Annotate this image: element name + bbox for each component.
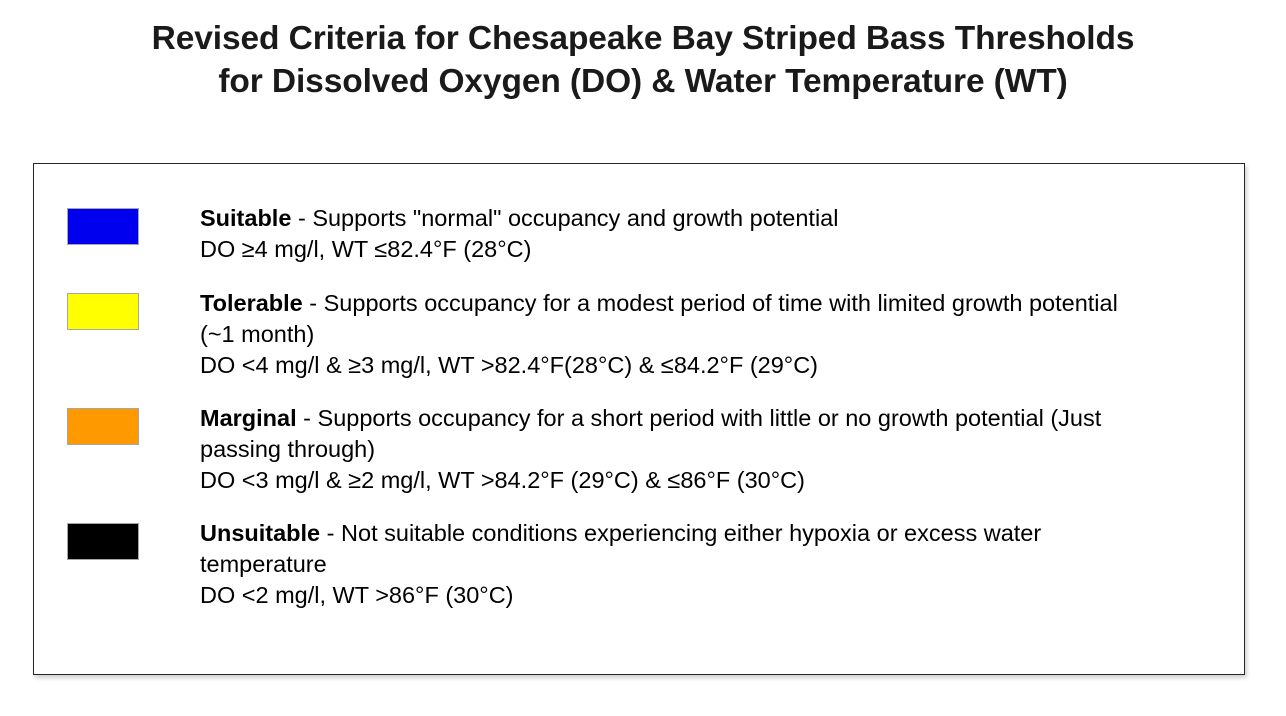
legend-item-tolerable: Tolerable - Supports occupancy for a mod… bbox=[67, 288, 1217, 381]
legend-item-description-unsuitable: Unsuitable - Not suitable conditions exp… bbox=[200, 518, 1215, 580]
legend-item-desc-suitable: Supports "normal" occupancy and growth p… bbox=[312, 205, 838, 231]
legend-item-text-marginal: Marginal - Supports occupancy for a shor… bbox=[200, 403, 1215, 496]
legend-item-separator-unsuitable: - bbox=[320, 520, 341, 546]
legend-item-spec-tolerable: DO <4 mg/l & ≥3 mg/l, WT >82.4°F(28°C) &… bbox=[200, 350, 1215, 381]
legend-item-description-tolerable: Tolerable - Supports occupancy for a mod… bbox=[200, 288, 1215, 350]
color-swatch-suitable bbox=[67, 208, 139, 245]
page-title: Revised Criteria for Chesapeake Bay Stri… bbox=[40, 17, 1246, 103]
legend-item-unsuitable: Unsuitable - Not suitable conditions exp… bbox=[67, 518, 1217, 611]
legend-item-label-marginal: Marginal bbox=[200, 405, 297, 431]
legend-item-text-suitable: Suitable - Supports "normal" occupancy a… bbox=[200, 203, 1215, 265]
criteria-legend-panel: Suitable - Supports "normal" occupancy a… bbox=[33, 163, 1245, 675]
legend-item-spec-unsuitable: DO <2 mg/l, WT >86°F (30°C) bbox=[200, 580, 1215, 611]
legend-item-label-unsuitable: Unsuitable bbox=[200, 520, 320, 546]
legend-item-separator-suitable: - bbox=[291, 205, 312, 231]
legend-item-desc-tolerable: Supports occupancy for a modest period o… bbox=[200, 290, 1118, 347]
legend-item-desc-marginal: Supports occupancy for a short period wi… bbox=[200, 405, 1101, 462]
legend-item-spec-suitable: DO ≥4 mg/l, WT ≤82.4°F (28°C) bbox=[200, 234, 1215, 265]
slide-root: Revised Criteria for Chesapeake Bay Stri… bbox=[0, 0, 1286, 716]
legend-item-description-marginal: Marginal - Supports occupancy for a shor… bbox=[200, 403, 1215, 465]
legend-item-label-suitable: Suitable bbox=[200, 205, 291, 231]
legend-item-separator-marginal: - bbox=[297, 405, 318, 431]
legend-item-label-tolerable: Tolerable bbox=[200, 290, 303, 316]
page-title-line-2: for Dissolved Oxygen (DO) & Water Temper… bbox=[40, 60, 1246, 103]
color-swatch-marginal bbox=[67, 408, 139, 445]
legend-item-text-tolerable: Tolerable - Supports occupancy for a mod… bbox=[200, 288, 1215, 381]
color-swatch-tolerable bbox=[67, 293, 139, 330]
legend-item-spec-marginal: DO <3 mg/l & ≥2 mg/l, WT >84.2°F (29°C) … bbox=[200, 465, 1215, 496]
page-title-line-1: Revised Criteria for Chesapeake Bay Stri… bbox=[40, 17, 1246, 60]
legend-item-marginal: Marginal - Supports occupancy for a shor… bbox=[67, 403, 1217, 496]
color-swatch-unsuitable bbox=[67, 523, 139, 560]
legend-item-description-suitable: Suitable - Supports "normal" occupancy a… bbox=[200, 203, 1215, 234]
legend-item-text-unsuitable: Unsuitable - Not suitable conditions exp… bbox=[200, 518, 1215, 611]
legend-item-suitable: Suitable - Supports "normal" occupancy a… bbox=[67, 203, 1217, 265]
legend-item-separator-tolerable: - bbox=[303, 290, 324, 316]
